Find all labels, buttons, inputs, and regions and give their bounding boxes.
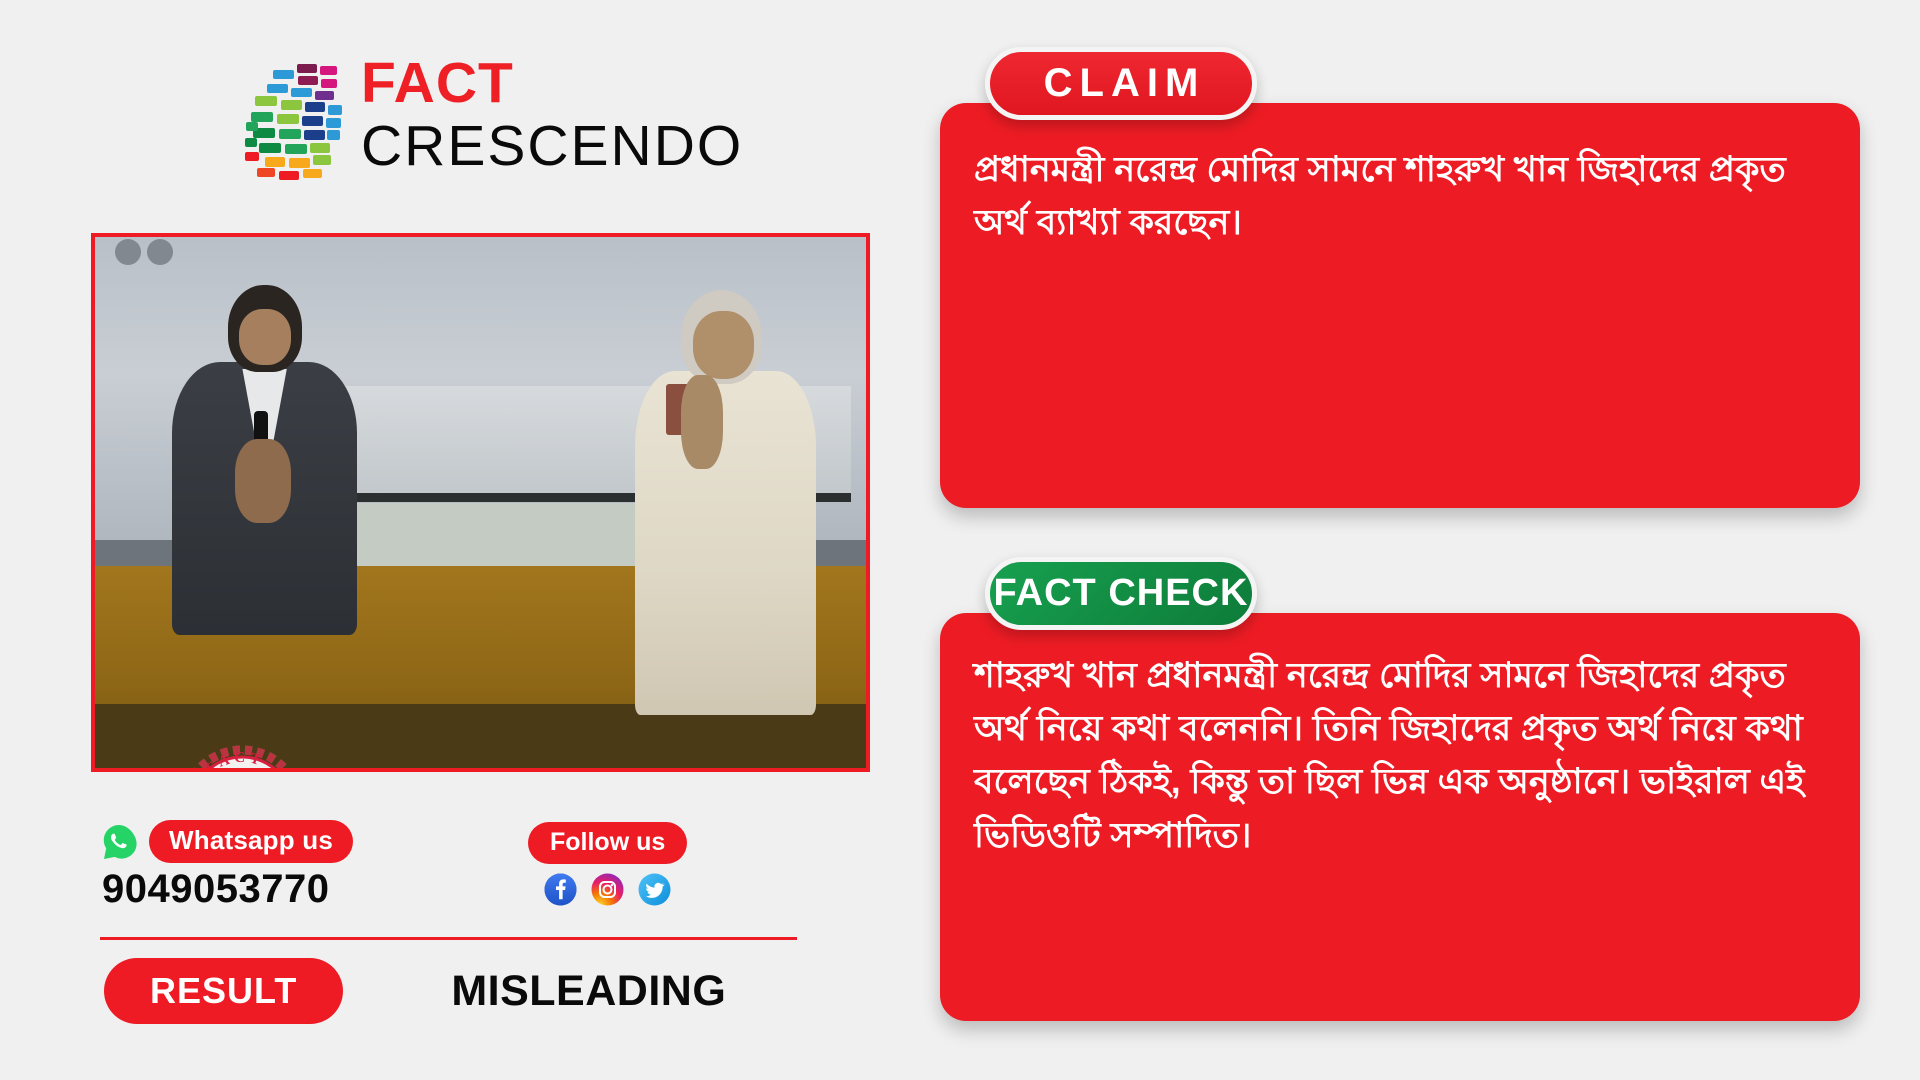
left-column: FACT CRESCENDO: [0, 0, 900, 1080]
misleading-stamp: FACT MISLEADING CRESCENDO: [176, 742, 308, 772]
twitter-icon[interactable]: [638, 873, 671, 906]
whatsapp-icon[interactable]: [100, 823, 138, 861]
bottom-divider: [100, 937, 797, 940]
factcheck-panel: শাহরুখ খান প্রধানমন্ত্রী নরেন্দ্র মোদির …: [940, 613, 1860, 1021]
photo-artifact-dot: [147, 239, 173, 265]
logo-text-crescendo: CRESCENDO: [361, 114, 743, 178]
social-icons: [528, 873, 687, 906]
logo-wordmark: FACT CRESCENDO: [361, 52, 743, 178]
whatsapp-block[interactable]: Whatsapp us 9049053770: [100, 820, 353, 912]
photo-person-kurta: [627, 290, 820, 715]
right-column: প্রধানমন্ত্রী নরেন্দ্র মোদির সামনে শাহরু…: [900, 0, 1920, 1080]
factcheck-badge: FACT CHECK: [985, 557, 1257, 630]
factcheck-text: শাহরুখ খান প্রধানমন্ত্রী নরেন্দ্র মোদির …: [940, 613, 1860, 862]
photo-face-left: [239, 309, 291, 365]
contact-row: Whatsapp us 9049053770 Follow us: [100, 820, 800, 920]
photo-hands-left: [235, 439, 291, 523]
follow-block: Follow us: [528, 822, 687, 906]
globe-bricks-icon: [243, 60, 355, 182]
photo-person-suit: [172, 285, 357, 635]
result-verdict: MISLEADING: [451, 967, 726, 1016]
photo-artifact-dot: [115, 239, 141, 265]
photo-face-right: [693, 311, 755, 379]
logo-text-fact: FACT: [361, 52, 743, 114]
photo-kurta-body: [635, 371, 816, 715]
whatsapp-number[interactable]: 9049053770: [102, 867, 353, 912]
result-row: RESULT MISLEADING: [104, 955, 804, 1027]
result-label: RESULT: [104, 958, 343, 1024]
claim-panel: প্রধানমন্ত্রী নরেন্দ্র মোদির সামনে শাহরু…: [940, 103, 1860, 508]
instagram-icon[interactable]: [591, 873, 624, 906]
follow-label[interactable]: Follow us: [528, 822, 687, 864]
evidence-photo: FACT MISLEADING CRESCENDO: [91, 233, 870, 772]
claim-badge: CLAIM: [985, 47, 1257, 120]
brand-logo: FACT CRESCENDO: [243, 52, 713, 187]
claim-text: প্রধানমন্ত্রী নরেন্দ্র মোদির সামনে শাহরু…: [940, 103, 1860, 249]
photo-arm-right: [681, 375, 723, 468]
whatsapp-label[interactable]: Whatsapp us: [149, 820, 353, 863]
facebook-icon[interactable]: [544, 873, 577, 906]
whatsapp-line: Whatsapp us: [100, 820, 353, 863]
